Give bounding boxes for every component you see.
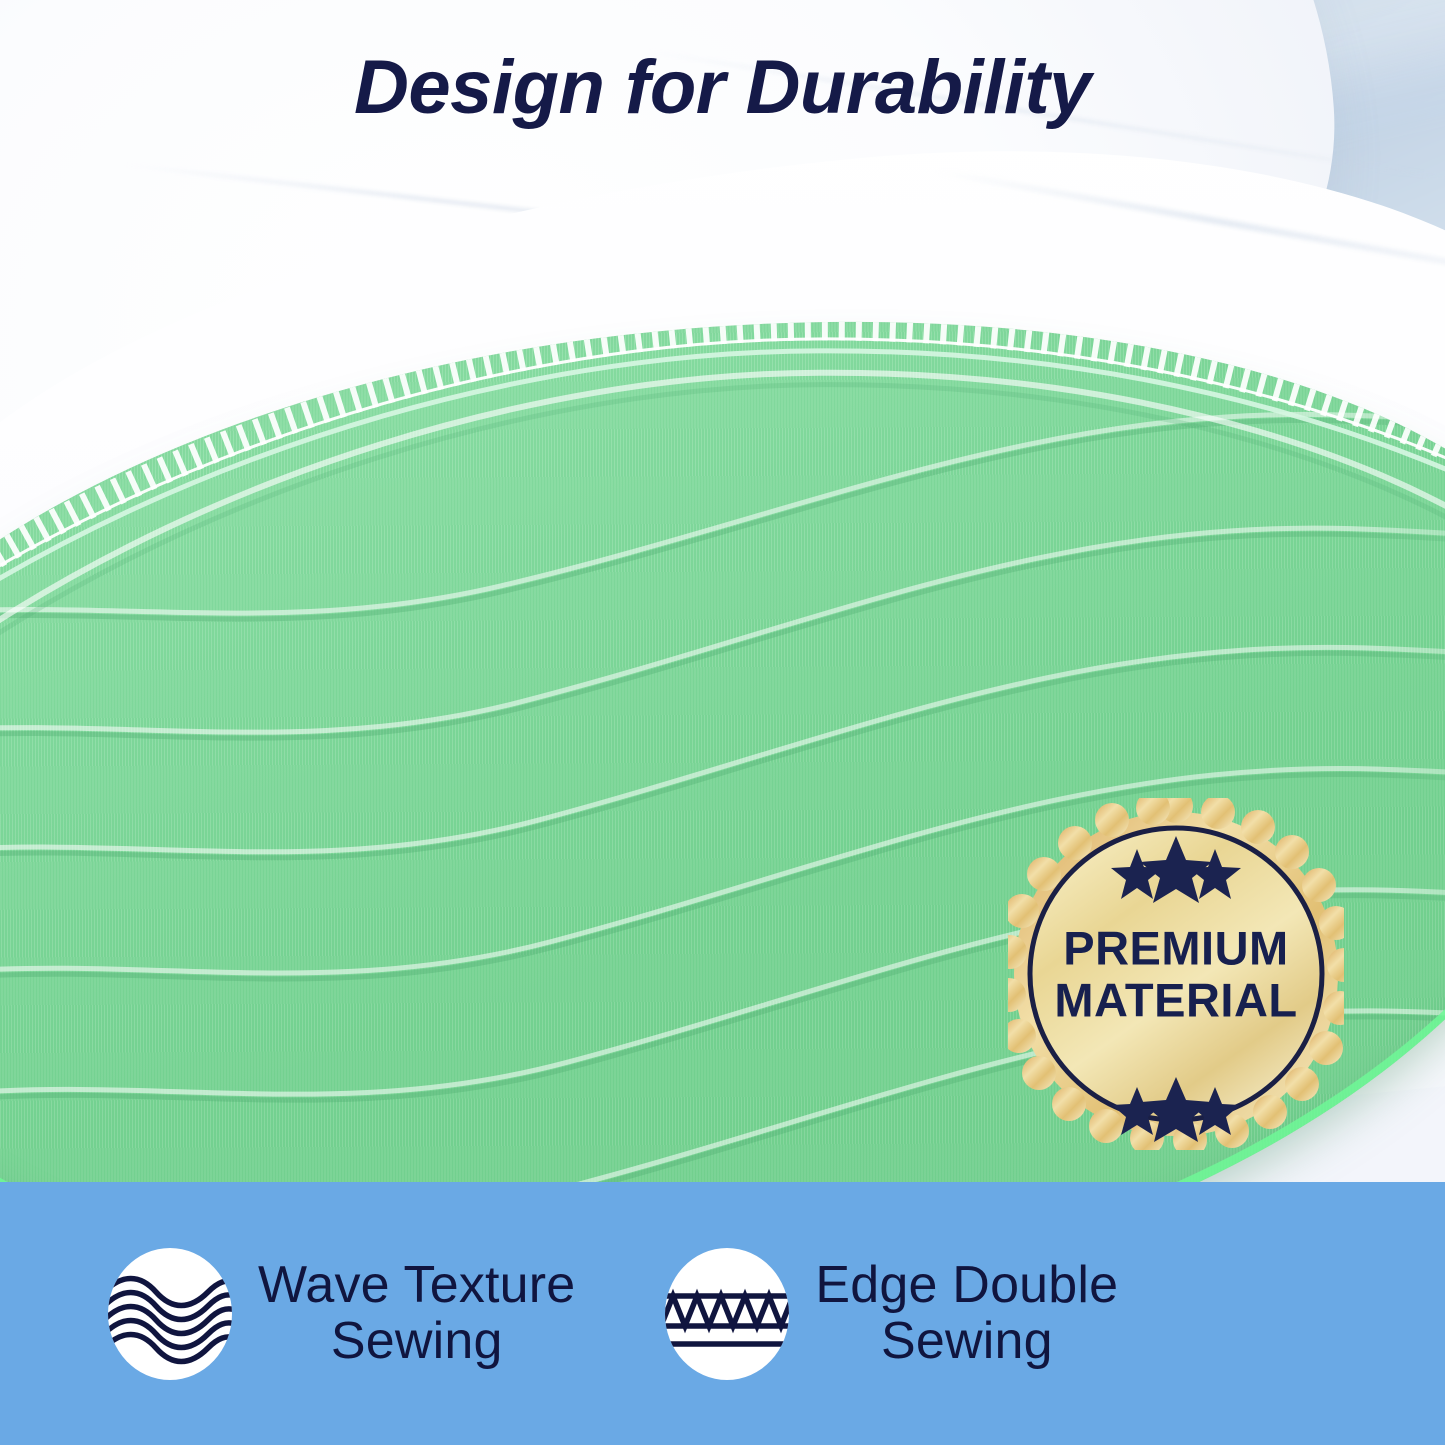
feature-label: Edge Double Sewing	[815, 1258, 1118, 1369]
product-feature-image: Design for Durability	[0, 0, 1445, 1445]
feature-edge-double-sewing: Edge Double Sewing	[665, 1248, 1118, 1380]
premium-material-badge: PREMIUM MATERIAL	[1008, 798, 1344, 1150]
zigzag-stitch-icon	[665, 1248, 789, 1380]
zigzag-stitch-glyph	[665, 1248, 789, 1380]
badge-label: PREMIUM MATERIAL	[1008, 922, 1344, 1025]
feature-wave-texture-sewing: Wave Texture Sewing	[108, 1248, 575, 1380]
wave-lines-glyph	[108, 1248, 232, 1380]
feature-label: Wave Texture Sewing	[258, 1258, 575, 1369]
feature-band: Wave Texture Sewing Edge Double Sewing	[0, 1182, 1445, 1445]
page-title: Design for Durability	[0, 44, 1445, 131]
feature-list: Wave Texture Sewing Edge Double Sewing	[0, 1182, 1445, 1445]
product-photo: Design for Durability	[0, 0, 1445, 1182]
wave-lines-icon	[108, 1248, 232, 1380]
